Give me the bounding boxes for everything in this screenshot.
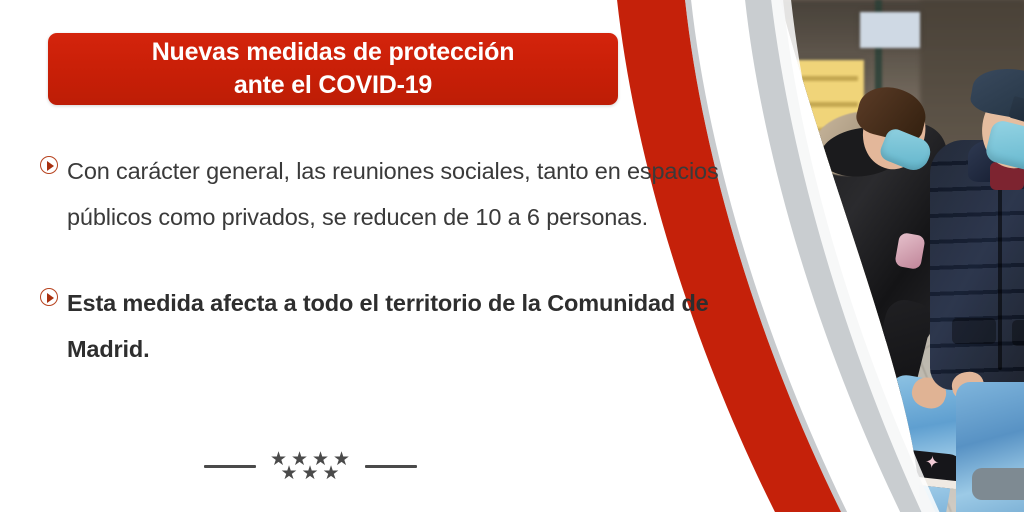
- backpack: [779, 143, 846, 246]
- jacket-pocket: [1012, 320, 1024, 346]
- star-icon: ★: [301, 464, 319, 482]
- shoe-logo: ✦: [911, 450, 953, 476]
- measures-list: Con carácter general, las reuniones soci…: [40, 148, 760, 372]
- person-right-shirt: [990, 162, 1024, 190]
- baseball-cap: [969, 62, 1024, 125]
- jacket-pocket: [952, 318, 996, 344]
- person-left-jacket: [796, 115, 950, 346]
- person-right-collar: [968, 140, 1024, 182]
- emblem-rule-right: [365, 465, 417, 468]
- jacket-patch: [894, 232, 926, 270]
- stars-group: ★★★★ ★★★: [270, 450, 351, 482]
- list-item: Esta medida afecta a todo el territorio …: [40, 280, 760, 372]
- banner-line-2: ante el COVID-19: [234, 69, 432, 102]
- person-right-hand: [950, 369, 986, 402]
- jacket-zipper: [998, 170, 1002, 370]
- cap-brim: [1008, 96, 1024, 134]
- chevron-right-circle-icon: [40, 288, 58, 306]
- star-icon: ★: [280, 464, 298, 482]
- person-right-shoe: [972, 468, 1024, 500]
- face-mask-icon: [878, 126, 935, 175]
- emblem-rule-left: [204, 465, 256, 468]
- face-mask-icon: [984, 119, 1024, 174]
- bullet-text: Con carácter general, las reuniones soci…: [67, 148, 760, 240]
- storefront-door: [920, 0, 1024, 317]
- person-right-jeans: [956, 382, 1024, 512]
- person-left-hood-inner: [817, 122, 909, 182]
- banner-line-1-light: Nuevas medidas de: [152, 38, 389, 66]
- chevron-right-circle-icon: [40, 156, 58, 174]
- person-left-arm: [867, 296, 935, 402]
- person-left-head: [853, 87, 935, 177]
- person-left-shoe: [890, 448, 965, 489]
- banner-line-1: Nuevas medidas de protección: [152, 36, 515, 69]
- person-right-puffer-jacket: [930, 140, 1024, 390]
- person-right-head: [975, 84, 1024, 174]
- banner-line-1-bold: protección: [388, 38, 514, 66]
- header-banner: Nuevas medidas de protección ante el COV…: [48, 33, 618, 105]
- grey-swoosh: [742, 0, 940, 512]
- person-left-jeans: [866, 372, 969, 512]
- person-left-hand: [908, 373, 950, 412]
- banner-line-2-light: ante el: [234, 71, 319, 99]
- bullet-text: Esta medida afecta a todo el territorio …: [67, 280, 760, 372]
- star-icon: ★: [322, 464, 340, 482]
- banner-line-2-bold: COVID-19: [318, 71, 432, 99]
- person-left-fur-hood: [807, 104, 912, 182]
- poster-root: ✦ Nue: [0, 0, 1024, 512]
- list-item: Con carácter general, las reuniones soci…: [40, 148, 760, 240]
- storefront-yellow-poster: [790, 60, 864, 175]
- person-left-hair: [853, 81, 931, 146]
- madrid-stars-emblem: ★★★★ ★★★: [0, 450, 620, 482]
- stars-row-bottom: ★★★: [280, 464, 340, 482]
- window-frame-post: [875, 0, 882, 317]
- storefront-sign-top: [860, 12, 920, 48]
